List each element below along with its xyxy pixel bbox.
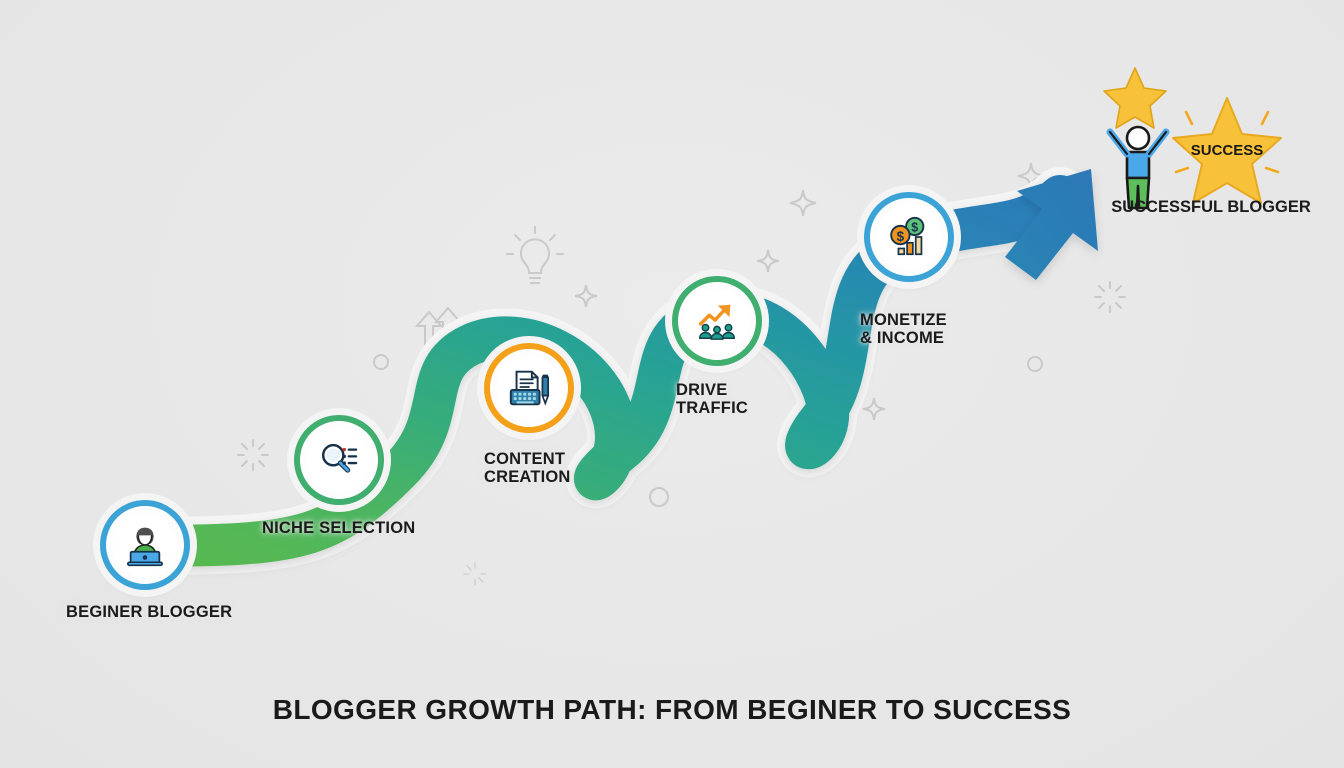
celebrating-person-icon	[1110, 127, 1166, 208]
step-label-drive-traffic: DRIVE TRAFFIC	[676, 381, 748, 418]
blogger-at-laptop-icon	[113, 513, 177, 577]
infographic-canvas: BEGINER BLOGGER NICHE SELECTION	[0, 0, 1344, 768]
step-label-niche-selection: NICHE SELECTION	[262, 519, 415, 537]
coins-bar-chart-icon: $ $	[877, 205, 941, 269]
svg-text:$: $	[911, 221, 918, 235]
success-star-icon: SUCCESS	[1173, 98, 1281, 203]
success-star-label: SUCCESS	[1191, 142, 1264, 159]
step-node-beginner-blogger[interactable]	[100, 500, 190, 590]
growth-arrow-audience-icon	[685, 289, 749, 353]
step-label-content-creation: CONTENT CREATION	[484, 450, 571, 487]
step-node-niche-selection[interactable]	[294, 415, 384, 505]
keyboard-document-pen-icon	[497, 356, 561, 420]
magnifier-checklist-icon	[307, 428, 371, 492]
page-title: BLOGGER GROWTH PATH: FROM BEGINER TO SUC…	[0, 694, 1344, 726]
successful-blogger-caption: SUCCESSFUL BLOGGER	[1096, 198, 1326, 217]
step-label-monetize-income: MONETIZE & INCOME	[860, 311, 947, 348]
successful-blogger-group: SUCCESS	[1090, 60, 1344, 220]
star-icon	[1104, 68, 1166, 128]
step-node-content-creation[interactable]	[484, 343, 574, 433]
svg-text:$: $	[897, 229, 905, 244]
step-node-drive-traffic[interactable]	[672, 276, 762, 366]
step-node-monetize-income[interactable]: $ $	[864, 192, 954, 282]
step-label-beginner-blogger: BEGINER BLOGGER	[66, 603, 232, 621]
